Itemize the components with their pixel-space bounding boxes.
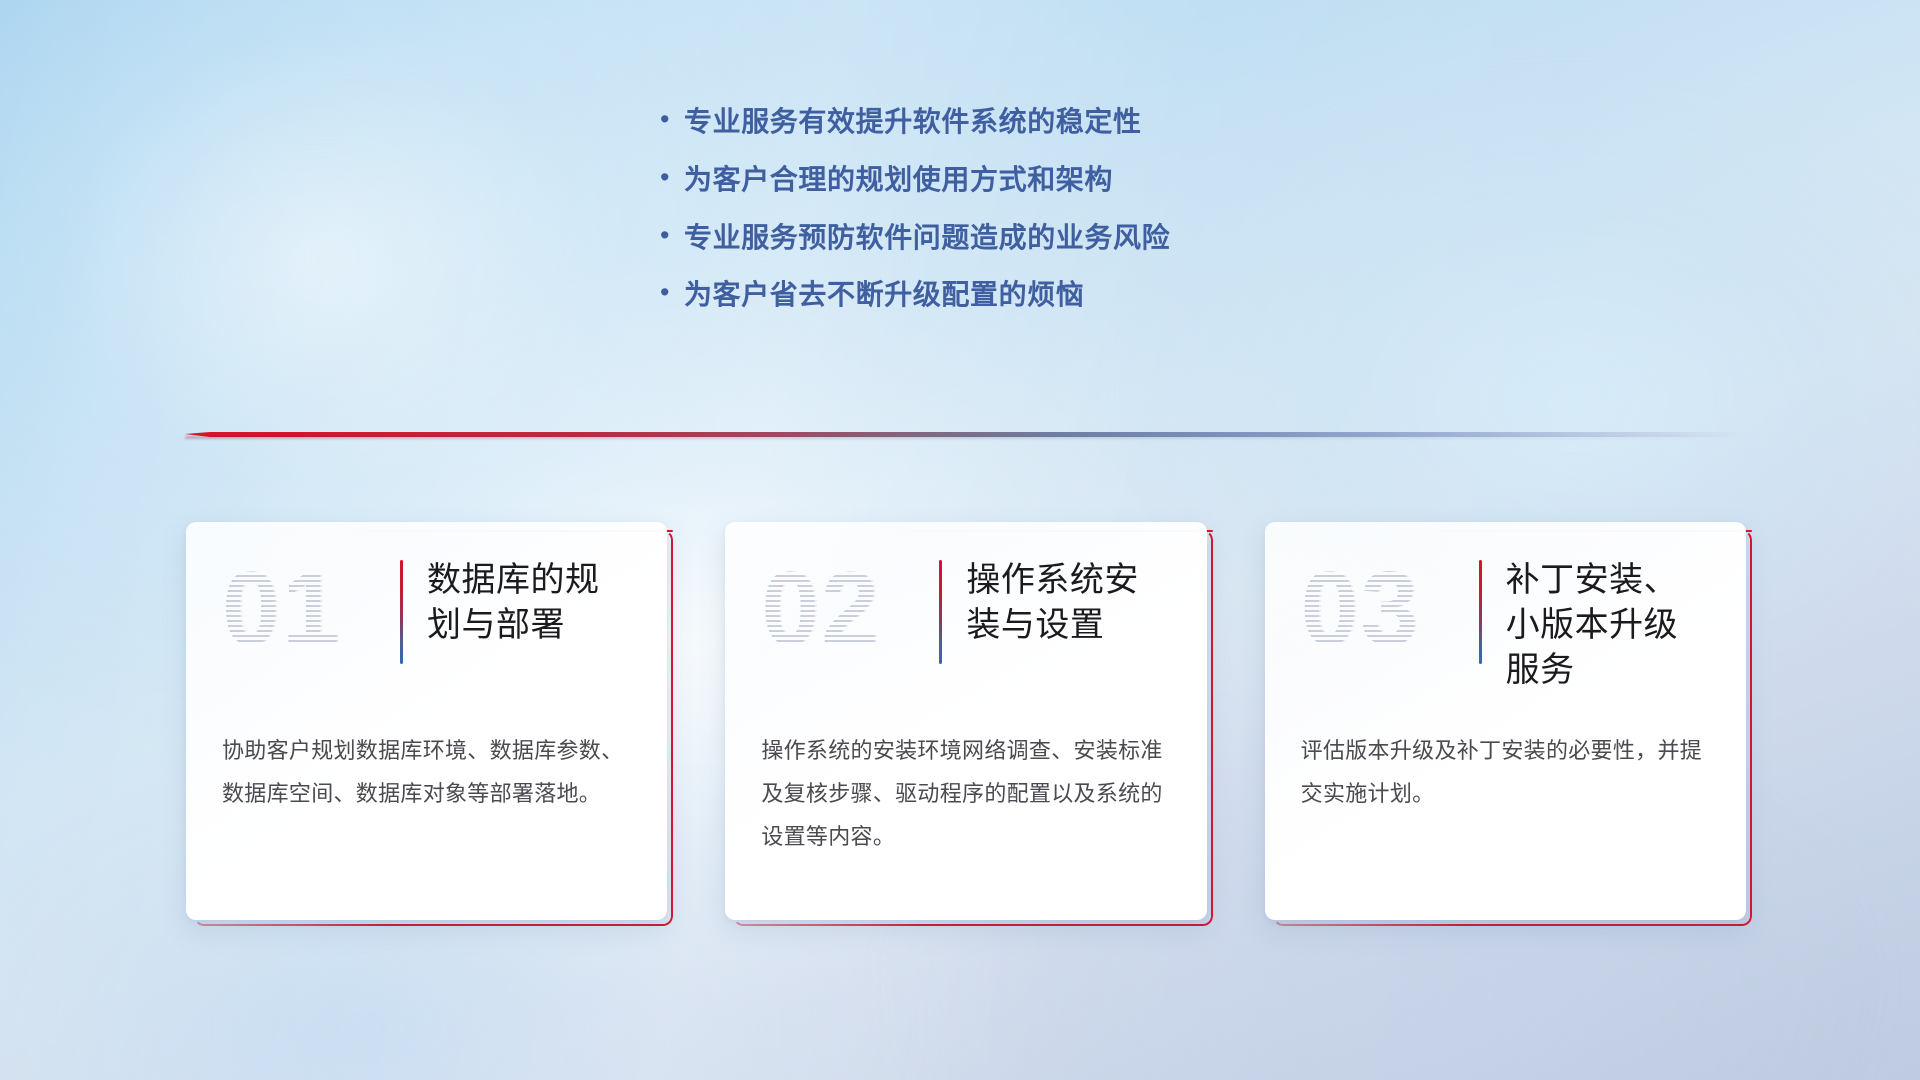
card-surface: 03 补丁安装、小版本升级服务 评估版本升级及补丁安装的必要性，并提交实施计划。	[1265, 522, 1746, 920]
list-item: • 为客户省去不断升级配置的烦恼	[660, 277, 1420, 313]
service-card[interactable]: 01 数据库的规划与部署 协助客户规划数据库环境、数据库参数、数据库空间、数据库…	[186, 522, 667, 920]
card-description: 评估版本升级及补丁安装的必要性，并提交实施计划。	[1301, 730, 1710, 816]
service-card[interactable]: 03 补丁安装、小版本升级服务 评估版本升级及补丁安装的必要性，并提交实施计划。	[1265, 522, 1746, 920]
card-title-accent-bar	[1479, 560, 1482, 664]
card-header: 01 数据库的规划与部署	[222, 556, 631, 686]
card-header: 02 操作系统安装与设置	[761, 556, 1170, 686]
bullet-marker-icon: •	[660, 222, 684, 249]
service-card-row: 01 数据库的规划与部署 协助客户规划数据库环境、数据库参数、数据库空间、数据库…	[186, 522, 1746, 920]
card-surface: 01 数据库的规划与部署 协助客户规划数据库环境、数据库参数、数据库空间、数据库…	[186, 522, 667, 920]
card-description: 操作系统的安装环境网络调查、安装标准及复核步骤、驱动程序的配置以及系统的设置等内…	[761, 730, 1170, 859]
card-title: 操作系统安装与设置	[966, 556, 1170, 648]
card-number-watermark: 02	[761, 550, 939, 668]
benefits-bullet-list: • 专业服务有效提升软件系统的稳定性 • 为客户合理的规划使用方式和架构 • 专…	[660, 104, 1420, 335]
bullet-text: 专业服务有效提升软件系统的稳定性	[684, 104, 1142, 140]
card-header: 03 补丁安装、小版本升级服务	[1301, 556, 1710, 686]
list-item: • 专业服务预防软件问题造成的业务风险	[660, 220, 1420, 256]
bullet-marker-icon: •	[660, 164, 684, 191]
list-item: • 专业服务有效提升软件系统的稳定性	[660, 104, 1420, 140]
bullet-text: 专业服务预防软件问题造成的业务风险	[684, 220, 1170, 256]
card-title-accent-bar	[400, 560, 403, 664]
slide-stage: • 专业服务有效提升软件系统的稳定性 • 为客户合理的规划使用方式和架构 • 专…	[0, 0, 1920, 1080]
list-item: • 为客户合理的规划使用方式和架构	[660, 162, 1420, 198]
card-surface: 02 操作系统安装与设置 操作系统的安装环境网络调查、安装标准及复核步骤、驱动程…	[725, 522, 1206, 920]
card-number-watermark: 01	[222, 550, 400, 668]
bullet-marker-icon: •	[660, 279, 684, 306]
section-divider	[185, 428, 1745, 442]
bullet-marker-icon: •	[660, 106, 684, 133]
card-title-accent-bar	[939, 560, 942, 664]
card-number-watermark: 03	[1301, 550, 1479, 668]
divider-shadow	[185, 436, 1745, 439]
bullet-text: 为客户合理的规划使用方式和架构	[684, 162, 1113, 198]
service-card[interactable]: 02 操作系统安装与设置 操作系统的安装环境网络调查、安装标准及复核步骤、驱动程…	[725, 522, 1206, 920]
bullet-text: 为客户省去不断升级配置的烦恼	[684, 277, 1084, 313]
card-title: 补丁安装、小版本升级服务	[1506, 556, 1710, 693]
card-title: 数据库的规划与部署	[427, 556, 631, 648]
card-description: 协助客户规划数据库环境、数据库参数、数据库空间、数据库对象等部署落地。	[222, 730, 631, 816]
